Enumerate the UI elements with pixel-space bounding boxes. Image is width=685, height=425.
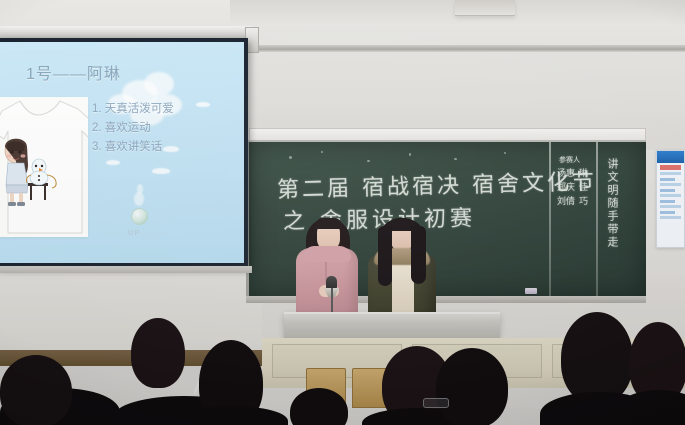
blackboard-name-left-1: 汤惠 (557, 168, 575, 181)
audience-head (436, 348, 508, 425)
blackboard-name-right-2: 佳 (579, 182, 588, 195)
slide-bullet-list: 1. 天真活泼可爱 2. 喜欢运动 3. 喜欢讲笑话 (92, 100, 207, 157)
ceiling-vent (455, 0, 515, 16)
slide-bullet-1: 1. 天真活泼可爱 (92, 100, 207, 119)
blackboard-name-right-3: 巧 (579, 196, 588, 209)
presenter-left-fringe (315, 218, 342, 229)
projection-screen: 1号——阿琳 (0, 38, 248, 268)
podium (284, 312, 500, 338)
poster-header-bar (657, 151, 684, 163)
blackboard-name-right-1: 琳 (579, 168, 588, 181)
poster-title-bar (660, 165, 681, 170)
tshirt-character-drawing-icon (0, 131, 62, 209)
wall-notice-poster (656, 150, 685, 248)
blackboard-name-left-3: 刘倩 (557, 196, 575, 209)
presenter-right-hair-right (411, 226, 426, 284)
slide-title: 1号——阿琳 (26, 60, 121, 84)
audience-head (131, 318, 185, 388)
eyeglasses-icon (423, 398, 449, 408)
presenter-left-hood (303, 246, 351, 262)
tshirt-artwork (0, 97, 88, 237)
balloon-label: UP (128, 228, 140, 237)
audience-head (0, 355, 72, 425)
classroom-photo: 第二届 宿战宿决 宿舍文化节 之 舍服设计初赛 参赛人 汤惠 郑庆 刘倩 琳 佳… (0, 0, 685, 425)
hot-air-balloon-icon (131, 208, 148, 225)
blackboard-name-header: 参赛人 (559, 154, 580, 167)
slide-bullet-3: 3. 喜欢讲笑话 (92, 138, 207, 157)
screen-lower-ledge (0, 266, 252, 273)
poster-text-rows (657, 170, 684, 224)
audience-head (561, 312, 633, 404)
presenter-right-hair-left (378, 226, 392, 286)
chalk-box-icon (525, 288, 537, 294)
presentation-slide: 1号——阿琳 (0, 42, 244, 263)
blackboard-name-left-2: 郑庆 (557, 182, 575, 195)
slide-bullet-2: 2. 喜欢运动 (92, 119, 207, 138)
blackboard-vertical-slogan: 讲文明随手带走 (605, 158, 619, 249)
wall-rail (258, 45, 685, 52)
